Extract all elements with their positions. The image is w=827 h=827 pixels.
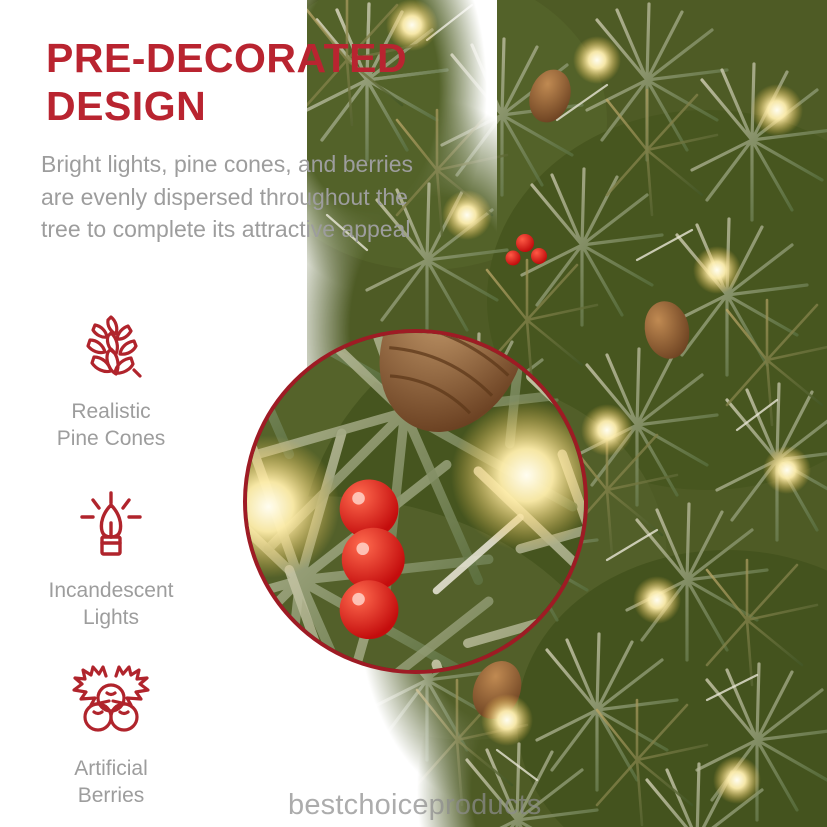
magnified-berry-cluster xyxy=(340,479,405,639)
description-text: Bright lights, pine cones, and berries a… xyxy=(41,148,431,246)
light-bulb-icon xyxy=(26,484,196,570)
feature-pine-cones: Realistic Pine Cones xyxy=(26,305,196,453)
page-title: PRE-DECORATED DESIGN xyxy=(46,34,476,131)
feature-incandescent-lights: Incandescent Lights xyxy=(26,484,196,632)
product-feature-image: PRE-DECORATED DESIGN Bright lights, pine… xyxy=(0,0,827,827)
watermark: bestchoiceproducts xyxy=(288,789,541,822)
magnified-detail-circle xyxy=(243,329,588,674)
pine-cone-icon xyxy=(26,305,196,391)
feature-label: Realistic Pine Cones xyxy=(26,399,196,453)
holly-berries-icon xyxy=(26,662,196,748)
magnified-foliage-illustration xyxy=(243,329,588,674)
feature-artificial-berries: Artificial Berries xyxy=(26,662,196,810)
feature-label: Incandescent Lights xyxy=(26,578,196,632)
feature-label: Artificial Berries xyxy=(26,756,196,810)
